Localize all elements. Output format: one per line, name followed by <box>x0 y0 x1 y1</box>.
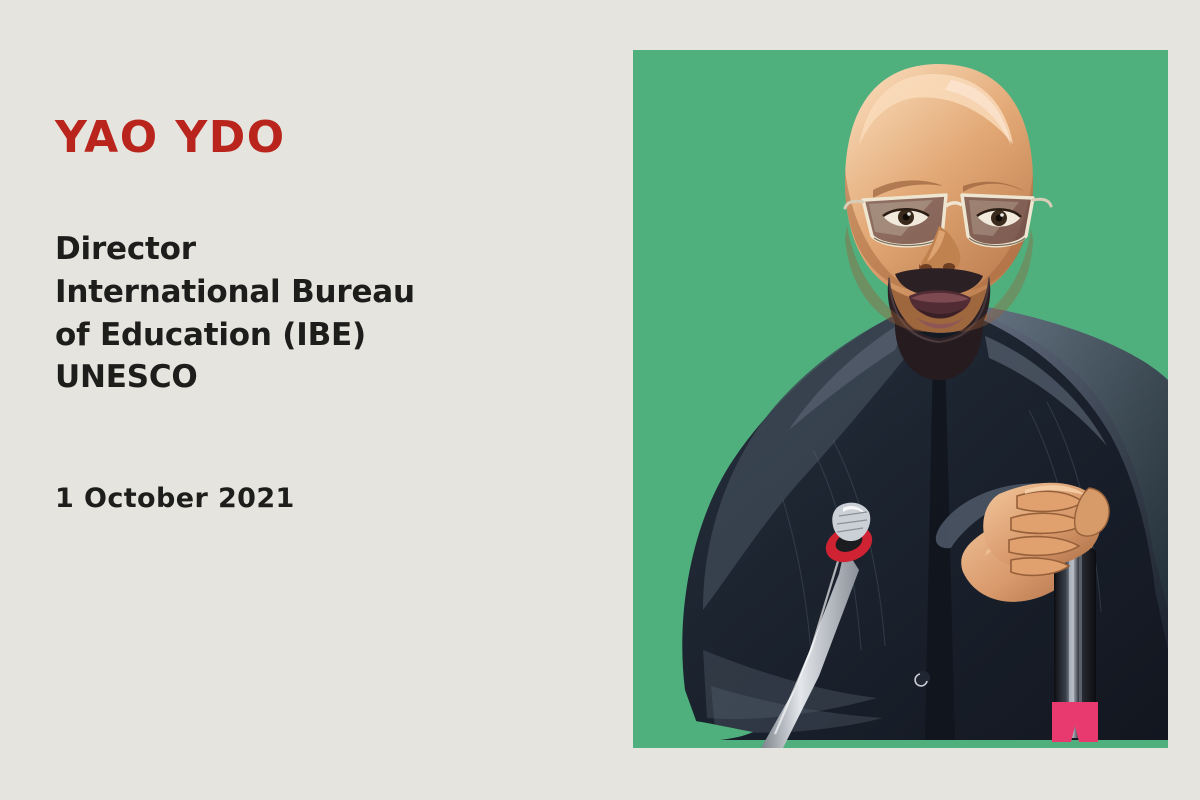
speaker-role-line: International Bureau <box>55 271 525 314</box>
speaker-name: YAO YDO <box>55 116 286 160</box>
speaker-text-column: YAO YDO Director International Bureau of… <box>55 0 595 800</box>
speaker-date: 1 October 2021 <box>55 485 295 512</box>
speaker-portrait-illustration <box>633 50 1168 748</box>
speaker-role: Director International Bureau of Educati… <box>55 228 525 399</box>
speaker-role-line: UNESCO <box>55 356 525 399</box>
speaker-portrait-panel <box>633 50 1168 748</box>
speaker-card-slide: YAO YDO Director International Bureau of… <box>0 0 1200 800</box>
speaker-role-line: of Education (IBE) <box>55 314 525 357</box>
speaker-role-line: Director <box>55 228 525 271</box>
